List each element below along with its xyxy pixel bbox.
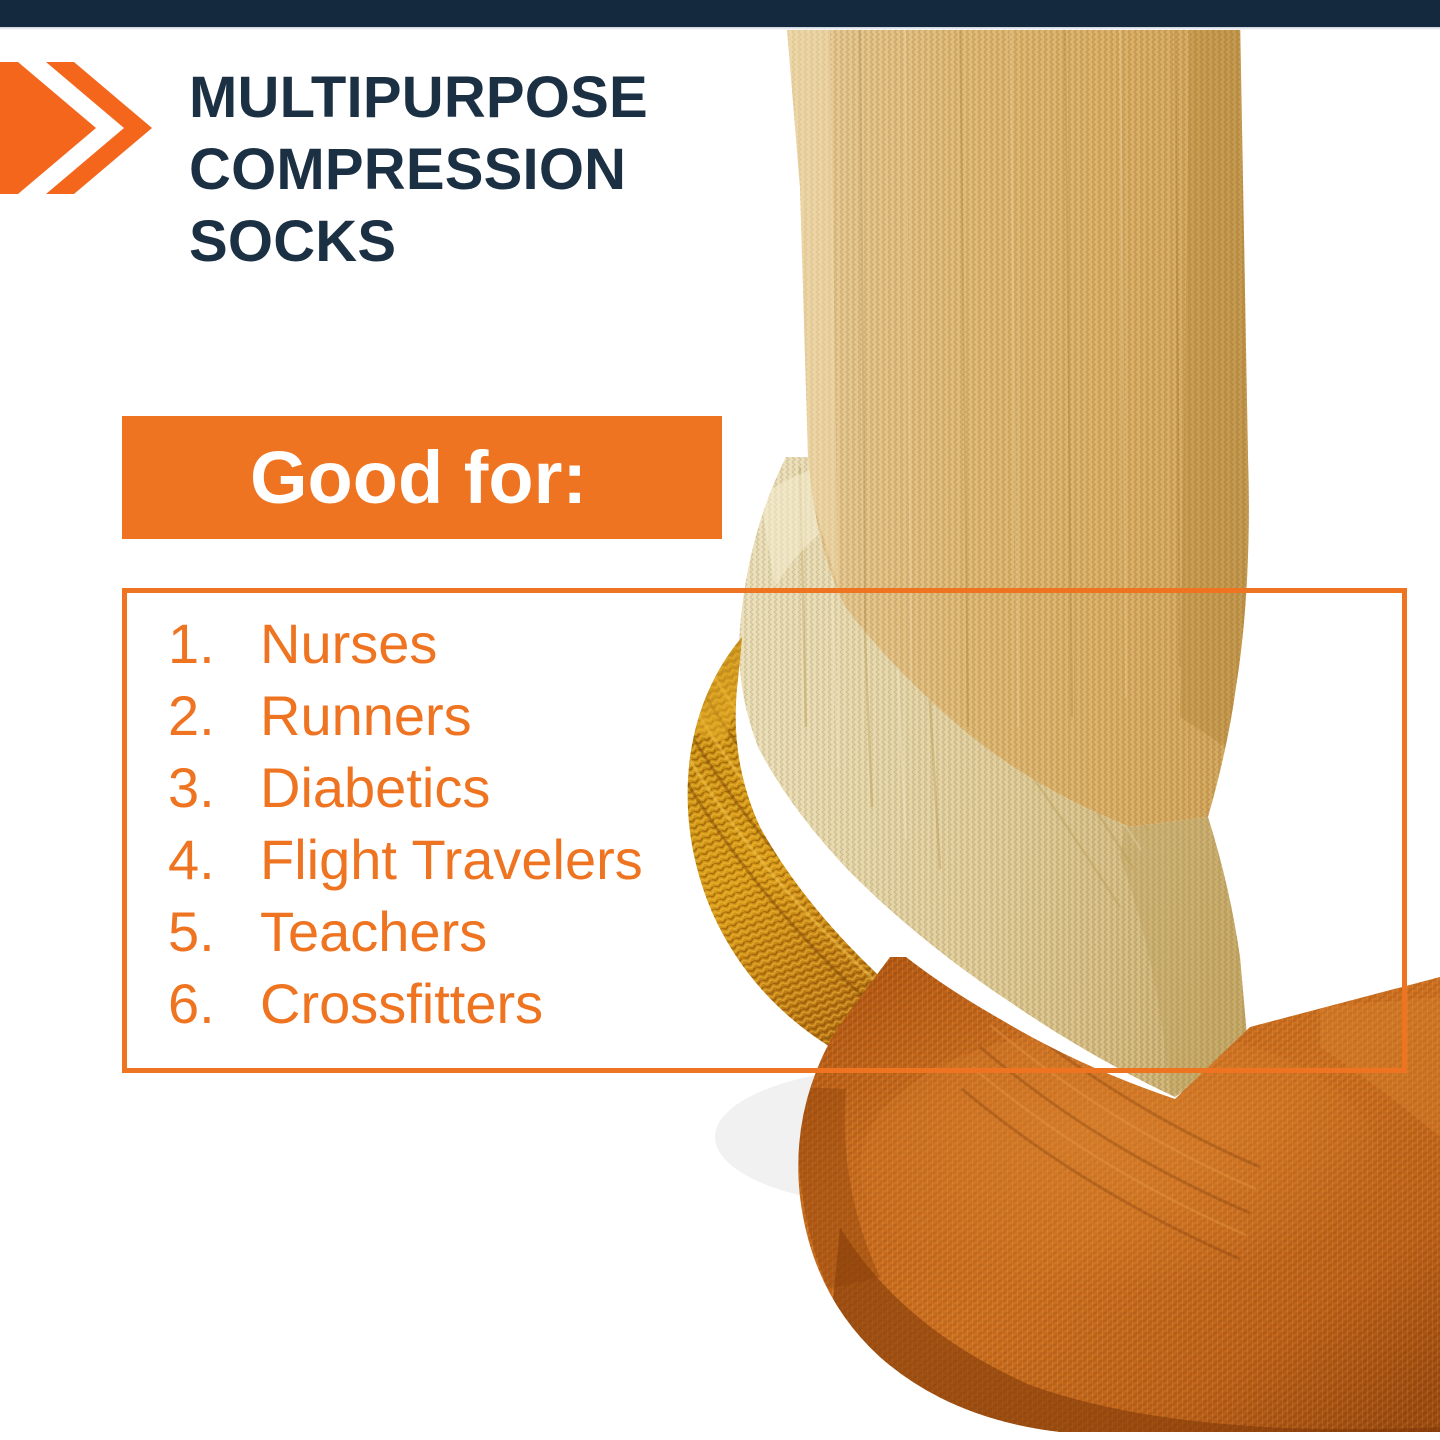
good-for-banner: Good for: — [122, 416, 722, 539]
list-item-number: 4. — [168, 824, 260, 896]
top-accent-bar — [0, 0, 1440, 27]
list-item-label: Runners — [260, 680, 472, 752]
page-title-line-1: MULTIPURPOSE — [189, 62, 749, 134]
list-item-label: Crossfitters — [260, 968, 543, 1040]
list-item: 6. Crossfitters — [168, 968, 808, 1040]
page-title-line-2: COMPRESSION — [189, 134, 749, 206]
list-item-number: 1. — [168, 608, 260, 680]
list-item-label: Diabetics — [260, 752, 490, 824]
list-item: 4. Flight Travelers — [168, 824, 808, 896]
list-item-label: Teachers — [260, 896, 487, 968]
list-item: 1. Nurses — [168, 608, 808, 680]
list-item-label: Nurses — [260, 608, 437, 680]
page-title-line-3: SOCKS — [189, 206, 749, 278]
list-item-number: 2. — [168, 680, 260, 752]
double-chevron-arrow-logo — [0, 48, 170, 208]
list-item-label: Flight Travelers — [260, 824, 643, 896]
list-item: 2. Runners — [168, 680, 808, 752]
top-accent-bar-shadow — [0, 27, 1440, 30]
page-title: MULTIPURPOSE COMPRESSION SOCKS — [189, 62, 749, 278]
benefits-list: 1. Nurses 2. Runners 3. Diabetics 4. Fli… — [168, 608, 808, 1040]
product-marketing-canvas: MULTIPURPOSE COMPRESSION SOCKS Good for:… — [0, 0, 1440, 1440]
list-item-number: 6. — [168, 968, 260, 1040]
list-item: 5. Teachers — [168, 896, 808, 968]
good-for-banner-label: Good for: — [250, 438, 587, 518]
list-item-number: 3. — [168, 752, 260, 824]
list-item: 3. Diabetics — [168, 752, 808, 824]
list-item-number: 5. — [168, 896, 260, 968]
